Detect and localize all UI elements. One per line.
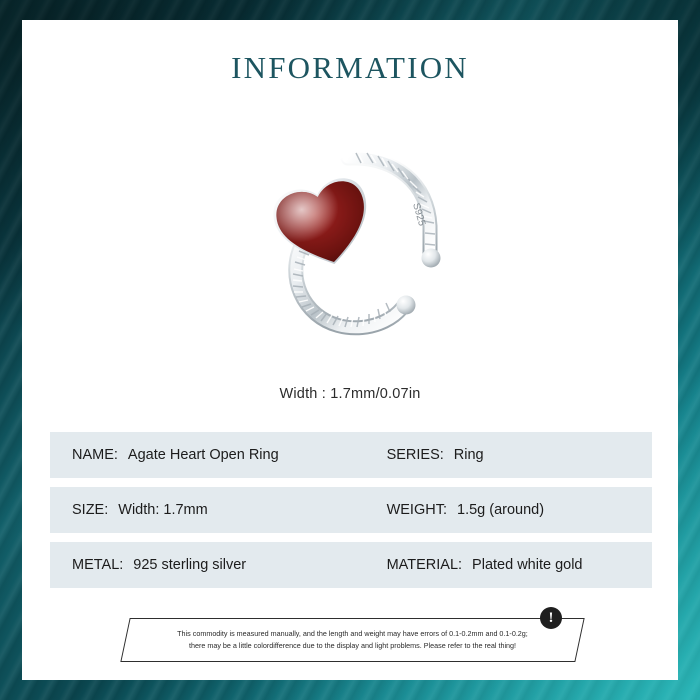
spec-label: SIZE: — [72, 502, 108, 518]
white-content-card: INFORMATION — [22, 20, 678, 680]
band-terminal-lower — [397, 296, 416, 315]
spec-table: NAME: Agate Heart Open Ring SERIES: Ring… — [50, 432, 652, 597]
disclaimer-box: This commodity is measured manually, and… — [125, 618, 580, 662]
width-caption: Width : 1.7mm/0.07in — [22, 386, 678, 402]
exclamation-icon: ! — [540, 607, 562, 629]
product-photo: S925 — [22, 116, 678, 384]
spec-value: 1.5g (around) — [457, 502, 544, 518]
spec-cell-metal: METAL: 925 sterling silver — [72, 557, 387, 573]
spec-value: Plated white gold — [472, 557, 582, 573]
table-row: NAME: Agate Heart Open Ring SERIES: Ring — [50, 432, 652, 478]
spec-label: NAME: — [72, 447, 118, 463]
spec-value: Width: 1.7mm — [118, 502, 207, 518]
spec-cell-name: NAME: Agate Heart Open Ring — [72, 447, 387, 463]
page-title: INFORMATION — [22, 50, 678, 86]
table-row: METAL: 925 sterling silver MATERIAL: Pla… — [50, 542, 652, 588]
band-terminal-upper — [422, 249, 441, 268]
spec-value: Agate Heart Open Ring — [128, 447, 279, 463]
ring-illustration: S925 — [230, 122, 470, 362]
disclaimer-text: This commodity is measured manually, and… — [125, 618, 580, 662]
spec-label: SERIES: — [387, 447, 444, 463]
table-row: SIZE: Width: 1.7mm WEIGHT: 1.5g (around) — [50, 487, 652, 533]
spec-cell-material: MATERIAL: Plated white gold — [387, 557, 652, 573]
agate-heart-stone — [268, 173, 379, 275]
spec-cell-series: SERIES: Ring — [387, 447, 652, 463]
product-info-page: INFORMATION — [0, 0, 700, 700]
spec-label: WEIGHT: — [387, 502, 447, 518]
disclaimer-line-1: This commodity is measured manually, and… — [177, 628, 528, 640]
spec-value: 925 sterling silver — [133, 557, 246, 573]
spec-label: METAL: — [72, 557, 123, 573]
spec-label: MATERIAL: — [387, 557, 462, 573]
spec-value: Ring — [454, 447, 484, 463]
spec-cell-size: SIZE: Width: 1.7mm — [72, 502, 387, 518]
disclaimer-line-2: there may be a little colordifference du… — [189, 640, 516, 652]
spec-cell-weight: WEIGHT: 1.5g (around) — [387, 502, 652, 518]
